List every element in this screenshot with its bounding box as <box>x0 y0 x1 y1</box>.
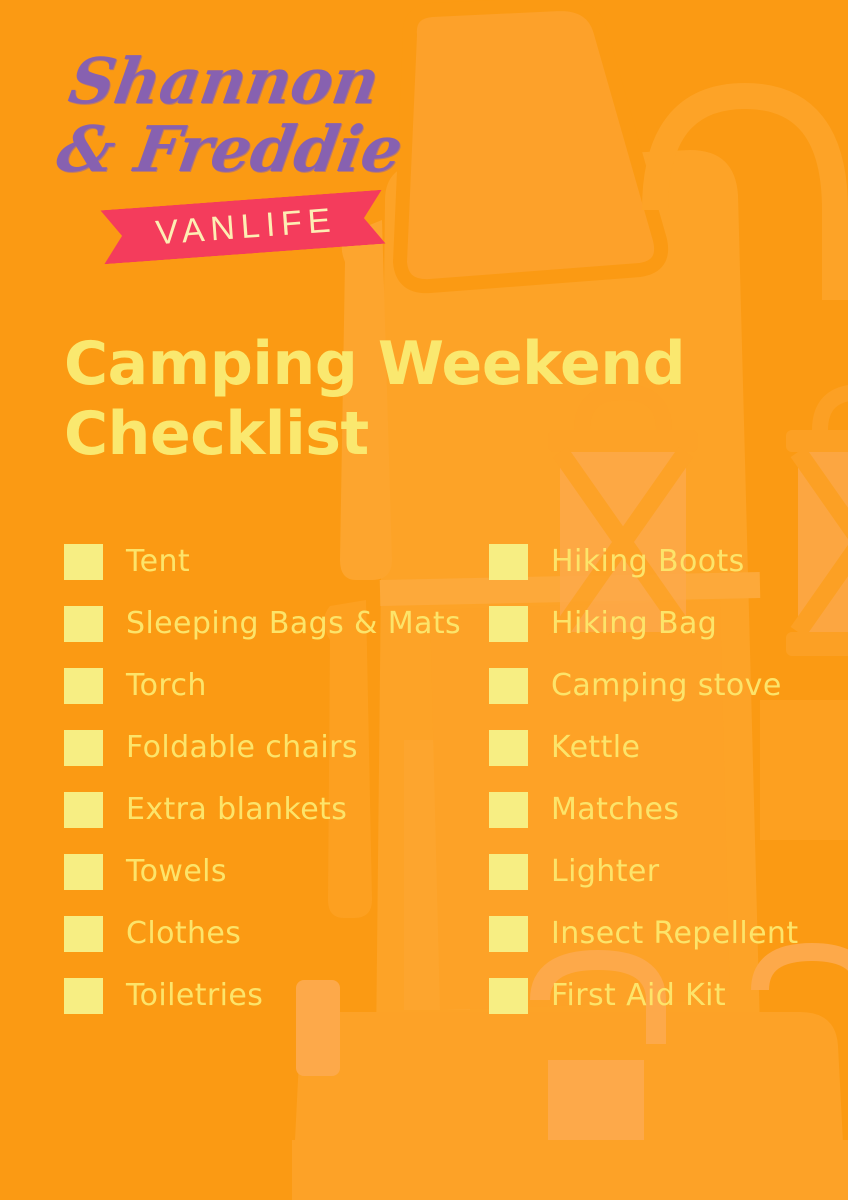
checkbox-icon[interactable] <box>489 606 528 642</box>
poster-canvas: Shannon & Freddie VANLIFE Camping Weeken… <box>0 0 848 1200</box>
checklist-item-label: Hiking Bag <box>551 609 717 639</box>
checklist-item[interactable]: Hiking Boots <box>489 531 839 593</box>
logo-script-line-1: Shannon <box>65 52 382 111</box>
checklist-item[interactable]: Toiletries <box>64 965 484 1027</box>
checkbox-icon[interactable] <box>64 606 103 642</box>
checkbox-icon[interactable] <box>64 668 103 704</box>
checklist-item[interactable]: Sleeping Bags & Mats <box>64 593 484 655</box>
checklist-item-label: Hiking Boots <box>551 547 745 577</box>
backpack-flap-outline <box>400 4 661 286</box>
checkbox-icon[interactable] <box>489 668 528 704</box>
checklist-item-label: Tent <box>126 547 190 577</box>
checklist-item[interactable]: Kettle <box>489 717 839 779</box>
checklist-item-label: First Aid Kit <box>551 981 726 1011</box>
checklist-item[interactable]: Camping stove <box>489 655 839 717</box>
checklist: TentSleeping Bags & MatsTorchFoldable ch… <box>0 531 848 1031</box>
checklist-item-label: Sleeping Bags & Mats <box>126 609 461 639</box>
checkbox-icon[interactable] <box>489 854 528 890</box>
checklist-item[interactable]: Hiking Bag <box>489 593 839 655</box>
checklist-item[interactable]: Extra blankets <box>64 779 484 841</box>
checklist-item-label: Matches <box>551 795 679 825</box>
checkbox-icon[interactable] <box>64 978 103 1014</box>
checklist-item-label: Toiletries <box>126 981 263 1011</box>
checklist-item[interactable]: Clothes <box>64 903 484 965</box>
banner-label: VANLIFE <box>100 190 385 265</box>
page-title-line-1: Camping Weekend <box>64 330 764 400</box>
checklist-item[interactable]: Matches <box>489 779 839 841</box>
checkbox-icon[interactable] <box>489 792 528 828</box>
checklist-column-left: TentSleeping Bags & MatsTorchFoldable ch… <box>64 531 484 1027</box>
checkbox-icon[interactable] <box>64 730 103 766</box>
checkbox-icon[interactable] <box>489 978 528 1014</box>
checklist-item-label: Lighter <box>551 857 659 887</box>
checklist-item-label: Foldable chairs <box>126 733 358 763</box>
checklist-item[interactable]: Torch <box>64 655 484 717</box>
checklist-item-label: Clothes <box>126 919 241 949</box>
checkbox-icon[interactable] <box>489 730 528 766</box>
checklist-item[interactable]: Lighter <box>489 841 839 903</box>
checklist-item[interactable]: Towels <box>64 841 484 903</box>
checkbox-icon[interactable] <box>64 854 103 890</box>
page-title-line-2: Checklist <box>64 400 764 470</box>
checklist-item[interactable]: Tent <box>64 531 484 593</box>
backpack-flap <box>400 4 661 286</box>
vanlife-banner: VANLIFE <box>100 190 385 265</box>
checklist-item-label: Kettle <box>551 733 640 763</box>
checkbox-icon[interactable] <box>489 544 528 580</box>
checklist-column-right: Hiking BootsHiking BagCamping stoveKettl… <box>489 531 839 1027</box>
page-title: Camping Weekend Checklist <box>64 330 764 469</box>
checkbox-icon[interactable] <box>64 916 103 952</box>
checklist-item-label: Insect Repellent <box>551 919 799 949</box>
checklist-item[interactable]: Foldable chairs <box>64 717 484 779</box>
checklist-item-label: Towels <box>126 857 227 887</box>
checkbox-icon[interactable] <box>64 544 103 580</box>
checklist-item[interactable]: First Aid Kit <box>489 965 839 1027</box>
checklist-item-label: Camping stove <box>551 671 782 701</box>
logo-script-line-2: & Freddie <box>53 120 406 179</box>
brand-logo: Shannon & Freddie VANLIFE <box>58 52 418 267</box>
checklist-item-label: Torch <box>126 671 207 701</box>
backpack-handle-loop <box>655 96 835 300</box>
checkbox-icon[interactable] <box>64 792 103 828</box>
checkbox-icon[interactable] <box>489 916 528 952</box>
checklist-item[interactable]: Insect Repellent <box>489 903 839 965</box>
checklist-item-label: Extra blankets <box>126 795 347 825</box>
